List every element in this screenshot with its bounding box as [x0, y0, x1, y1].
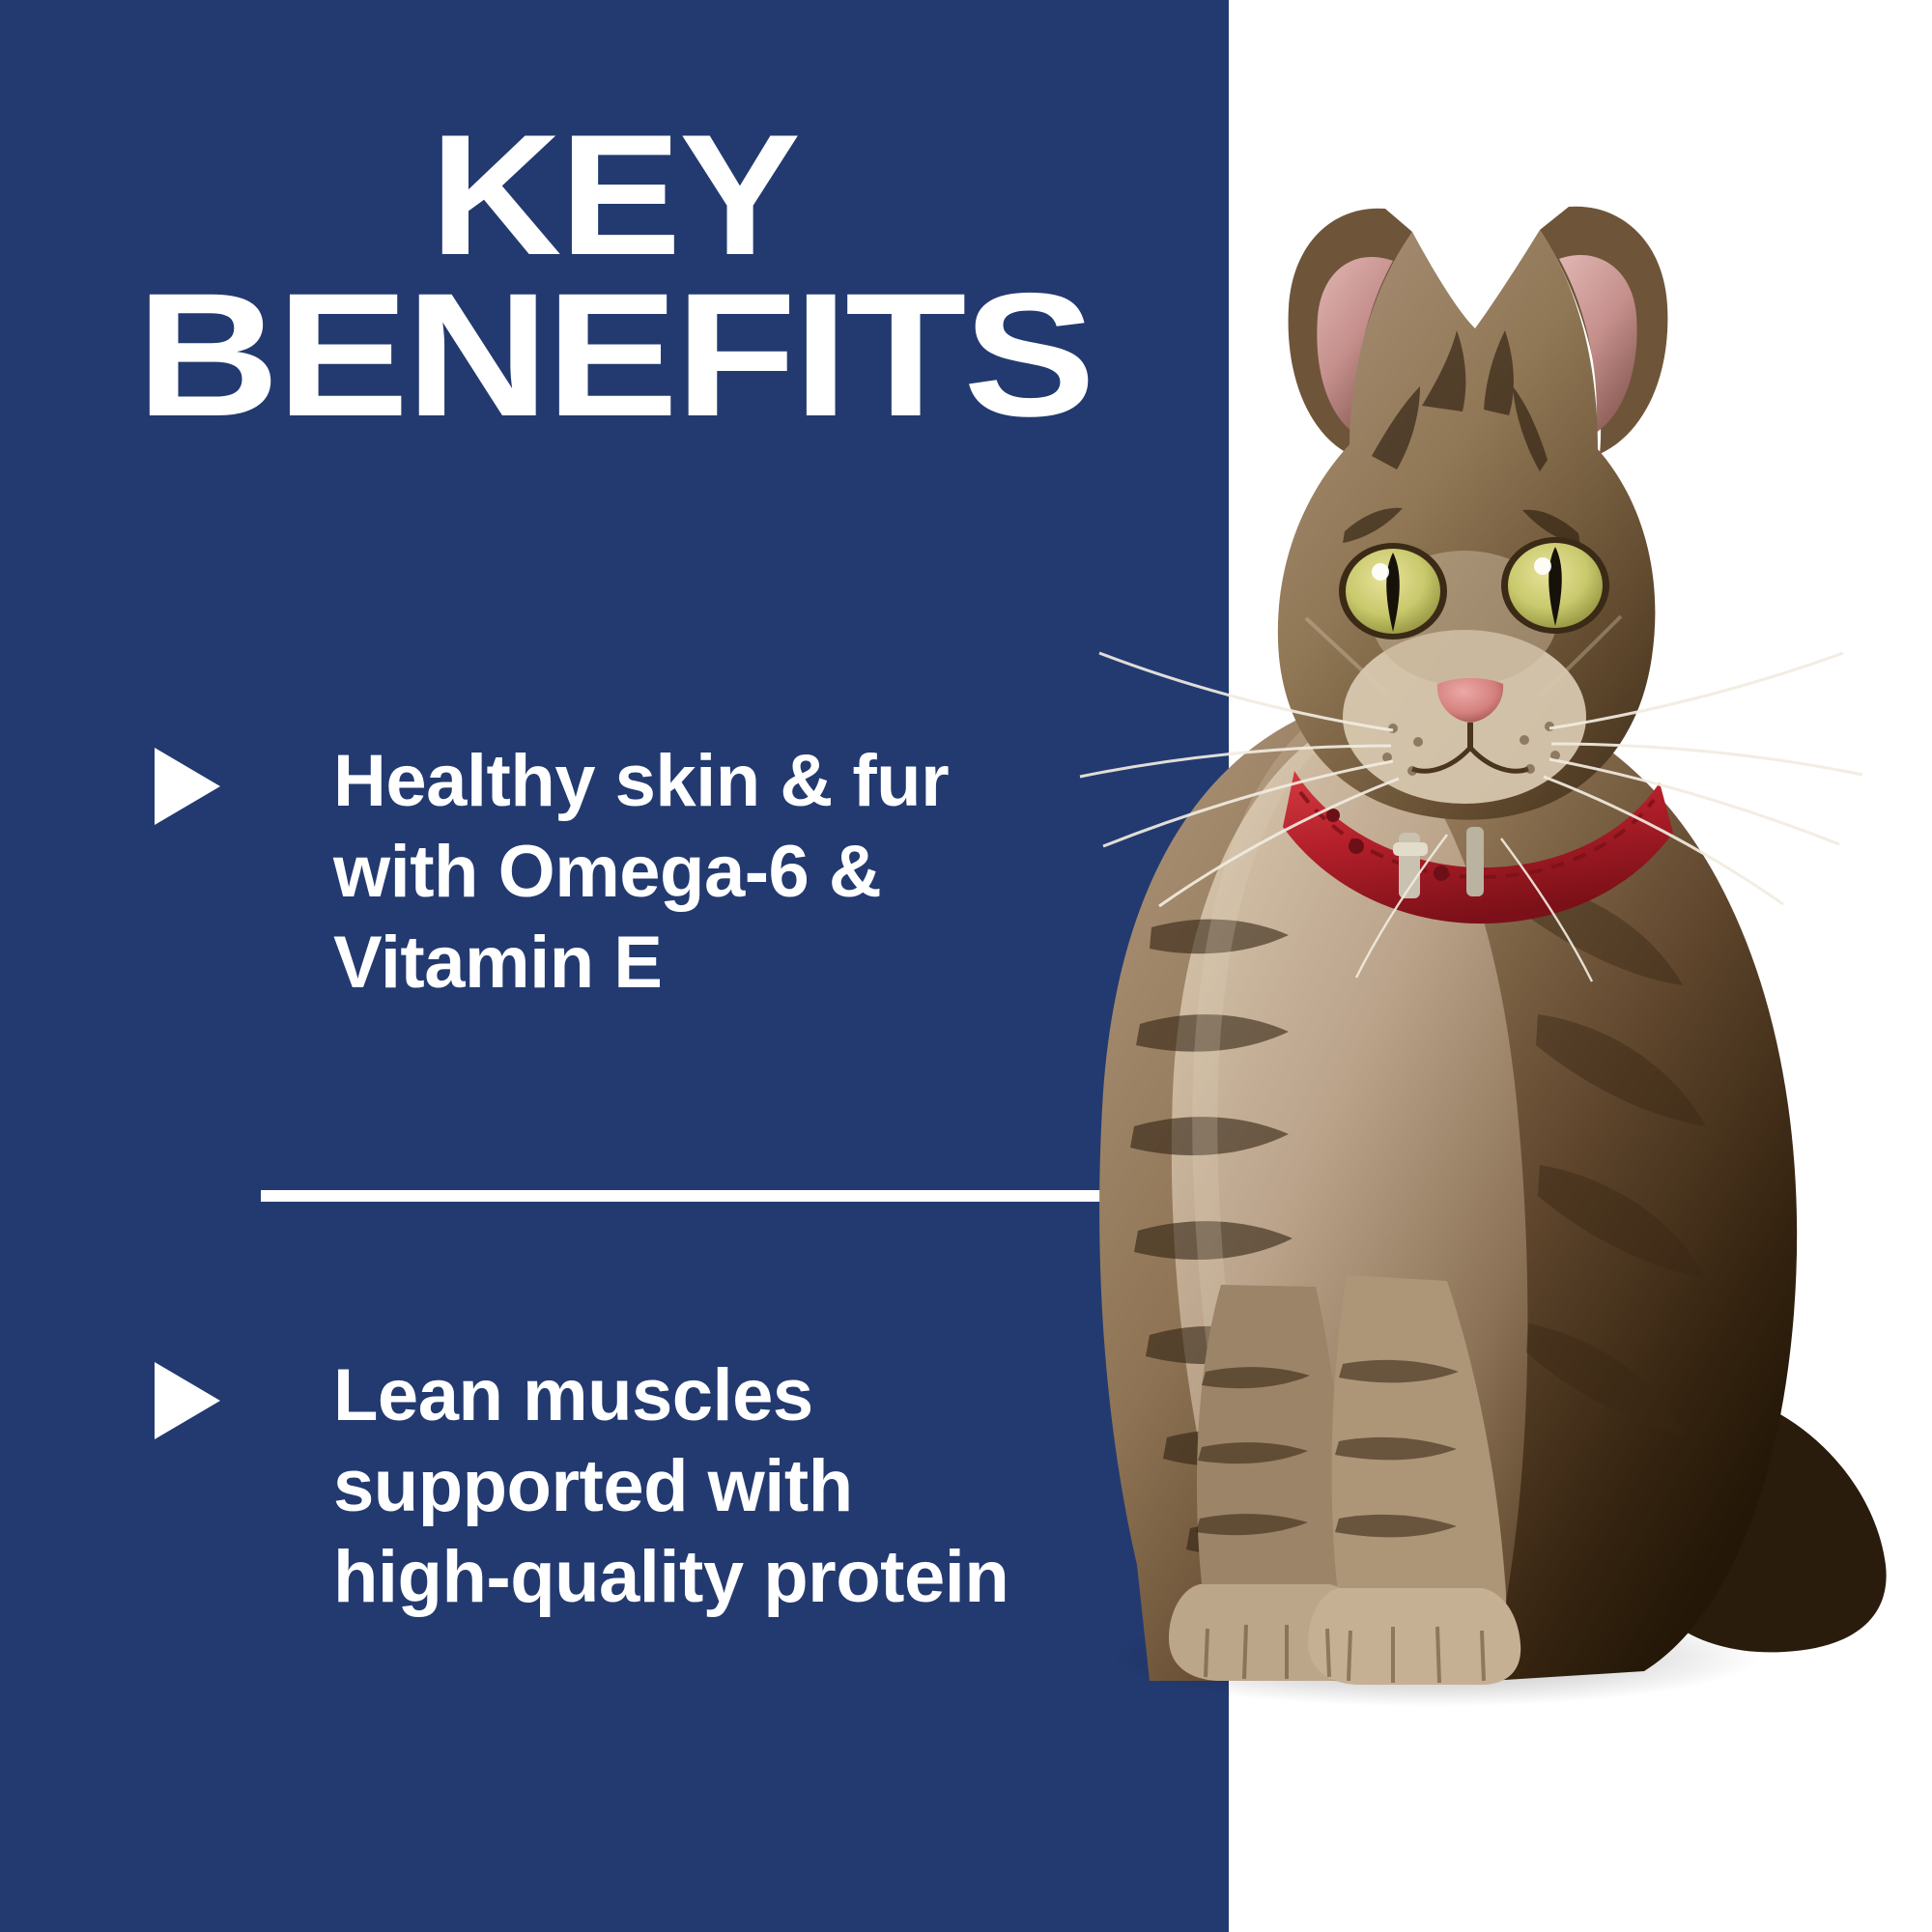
cat-paw-right — [1308, 1588, 1520, 1685]
cat-photo-area — [1229, 0, 1932, 1932]
cat-eye-left — [1339, 543, 1447, 639]
tabby-cat-illustration — [910, 116, 1932, 1826]
triangle-bullet-icon-2 — [155, 1350, 232, 1439]
cat-head — [1278, 207, 1668, 820]
cat-eye-right — [1501, 537, 1609, 634]
key-benefits-panel-image: KEY BENEFITS Healthy skin & fur with Ome… — [0, 0, 1932, 1932]
triangle-bullet-icon-1 — [155, 736, 232, 825]
